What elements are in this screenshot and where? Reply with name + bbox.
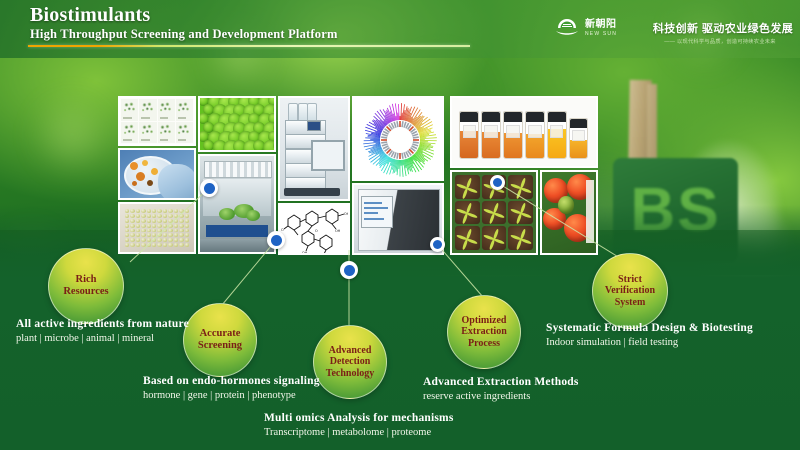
- photo-circos-plot: [352, 96, 444, 181]
- corporate-slogan: 科技创新 驱动农业绿色发展: [648, 20, 798, 36]
- bubble-strict-verification-line2: Verification: [605, 285, 655, 296]
- svg-text:O: O: [315, 229, 318, 233]
- svg-text:OH: OH: [335, 229, 341, 233]
- bubble-optimized-extraction[interactable]: Optimized Extraction Process: [447, 295, 521, 369]
- bubble-strict-verification-line1: Strict: [618, 274, 642, 285]
- page-title: Biostimulants: [30, 4, 150, 27]
- bubble-accurate-screening-line1: Accurate: [200, 328, 241, 339]
- caption-screening: Based on endo-hormones signaling hormone…: [143, 375, 320, 401]
- bubble-accurate-screening[interactable]: Accurate Screening: [183, 303, 257, 377]
- svg-text:O: O: [281, 228, 284, 232]
- bubble-rich-resources-line1: Rich: [75, 274, 96, 285]
- corporate-slogan-sub: —— 以现代科学与品质，创造可持续农业未来: [640, 38, 800, 45]
- svg-text:OH: OH: [302, 251, 308, 255]
- node-strict-verification[interactable]: [490, 175, 505, 190]
- bubble-strict-verification-line3: System: [615, 297, 646, 308]
- node-optimized-extraction[interactable]: [430, 237, 445, 252]
- caption-extraction-title: Advanced Extraction Methods: [423, 376, 579, 388]
- photo-chemical-structure: OOH OHOH OHO: [278, 203, 350, 255]
- caption-resources: All active ingredients from nature plant…: [16, 318, 189, 344]
- caption-verification: Systematic Formula Design & Biotesting I…: [546, 322, 753, 348]
- bubble-accurate-screening-line2: Screening: [198, 340, 242, 351]
- photo-herbarium-specimens: [118, 96, 196, 146]
- bubble-strict-verification[interactable]: Strict Verification System: [592, 253, 668, 329]
- photo-extract-vials: [450, 96, 598, 168]
- photo-petri-dish-microbes: [118, 148, 196, 200]
- caption-detection-detail: Transcriptome | metabolome | proteome: [264, 427, 454, 438]
- caption-screening-detail: hormone | gene | protein | phenotype: [143, 390, 320, 401]
- header-divider: [28, 45, 470, 47]
- slide-root: BS Biostimulants High Throughput Screeni…: [0, 0, 800, 450]
- photo-hplc-instrument: [278, 96, 350, 201]
- sun-over-field-icon: [554, 16, 580, 40]
- bubble-optimized-extraction-line3: Process: [468, 338, 500, 349]
- bubble-advanced-detection-line3: Technology: [326, 368, 375, 379]
- caption-verification-detail: Indoor simulation | field testing: [546, 337, 753, 348]
- brand-name-en: NEW SUN: [585, 32, 617, 37]
- molecule-diagram-icon: OOH OHOH OHO: [280, 205, 350, 255]
- node-accurate-screening[interactable]: [200, 179, 218, 197]
- svg-text:OH: OH: [344, 212, 350, 216]
- caption-resources-detail: plant | microbe | animal | mineral: [16, 333, 189, 344]
- bubble-rich-resources[interactable]: Rich Resources: [48, 248, 124, 324]
- caption-extraction: Advanced Extraction Methods reserve acti…: [423, 376, 579, 402]
- caption-verification-title: Systematic Formula Design & Biotesting: [546, 322, 753, 334]
- page-subtitle: High Throughput Screening and Developmen…: [30, 27, 338, 42]
- caption-extraction-detail: reserve active ingredients: [423, 391, 579, 402]
- brand-name-cn: 新朝阳: [585, 20, 617, 30]
- brand-logo: 新朝阳 NEW SUN: [554, 16, 617, 40]
- caption-detection-title: Multi omics Analysis for mechanisms: [264, 412, 454, 424]
- svg-text:OH: OH: [321, 253, 327, 255]
- node-growth-chamber[interactable]: [267, 231, 285, 249]
- bubble-advanced-detection-line1: Advanced: [329, 345, 372, 356]
- bubble-rich-resources-line2: Resources: [63, 286, 108, 297]
- caption-screening-title: Based on endo-hormones signaling: [143, 375, 320, 387]
- photo-tomato-field-trial: [540, 170, 598, 255]
- caption-detection: Multi omics Analysis for mechanisms Tran…: [264, 412, 454, 438]
- photo-algae-cell-culture: [198, 96, 276, 152]
- bubble-advanced-detection-line2: Detection: [330, 356, 371, 367]
- photo-growth-chamber: [198, 154, 276, 254]
- bubble-optimized-extraction-line1: Optimized: [461, 315, 506, 326]
- slide-header: Biostimulants High Throughput Screening …: [0, 0, 800, 58]
- brand-name: 新朝阳 NEW SUN: [585, 20, 617, 37]
- wooden-stick-secondary-icon: [647, 84, 657, 164]
- node-advanced-detection[interactable]: [340, 261, 358, 279]
- bubble-advanced-detection[interactable]: Advanced Detection Technology: [313, 325, 387, 399]
- photo-microplate-96well: [118, 202, 196, 254]
- bubble-optimized-extraction-line2: Extraction: [461, 326, 507, 337]
- caption-resources-title: All active ingredients from nature: [16, 318, 189, 330]
